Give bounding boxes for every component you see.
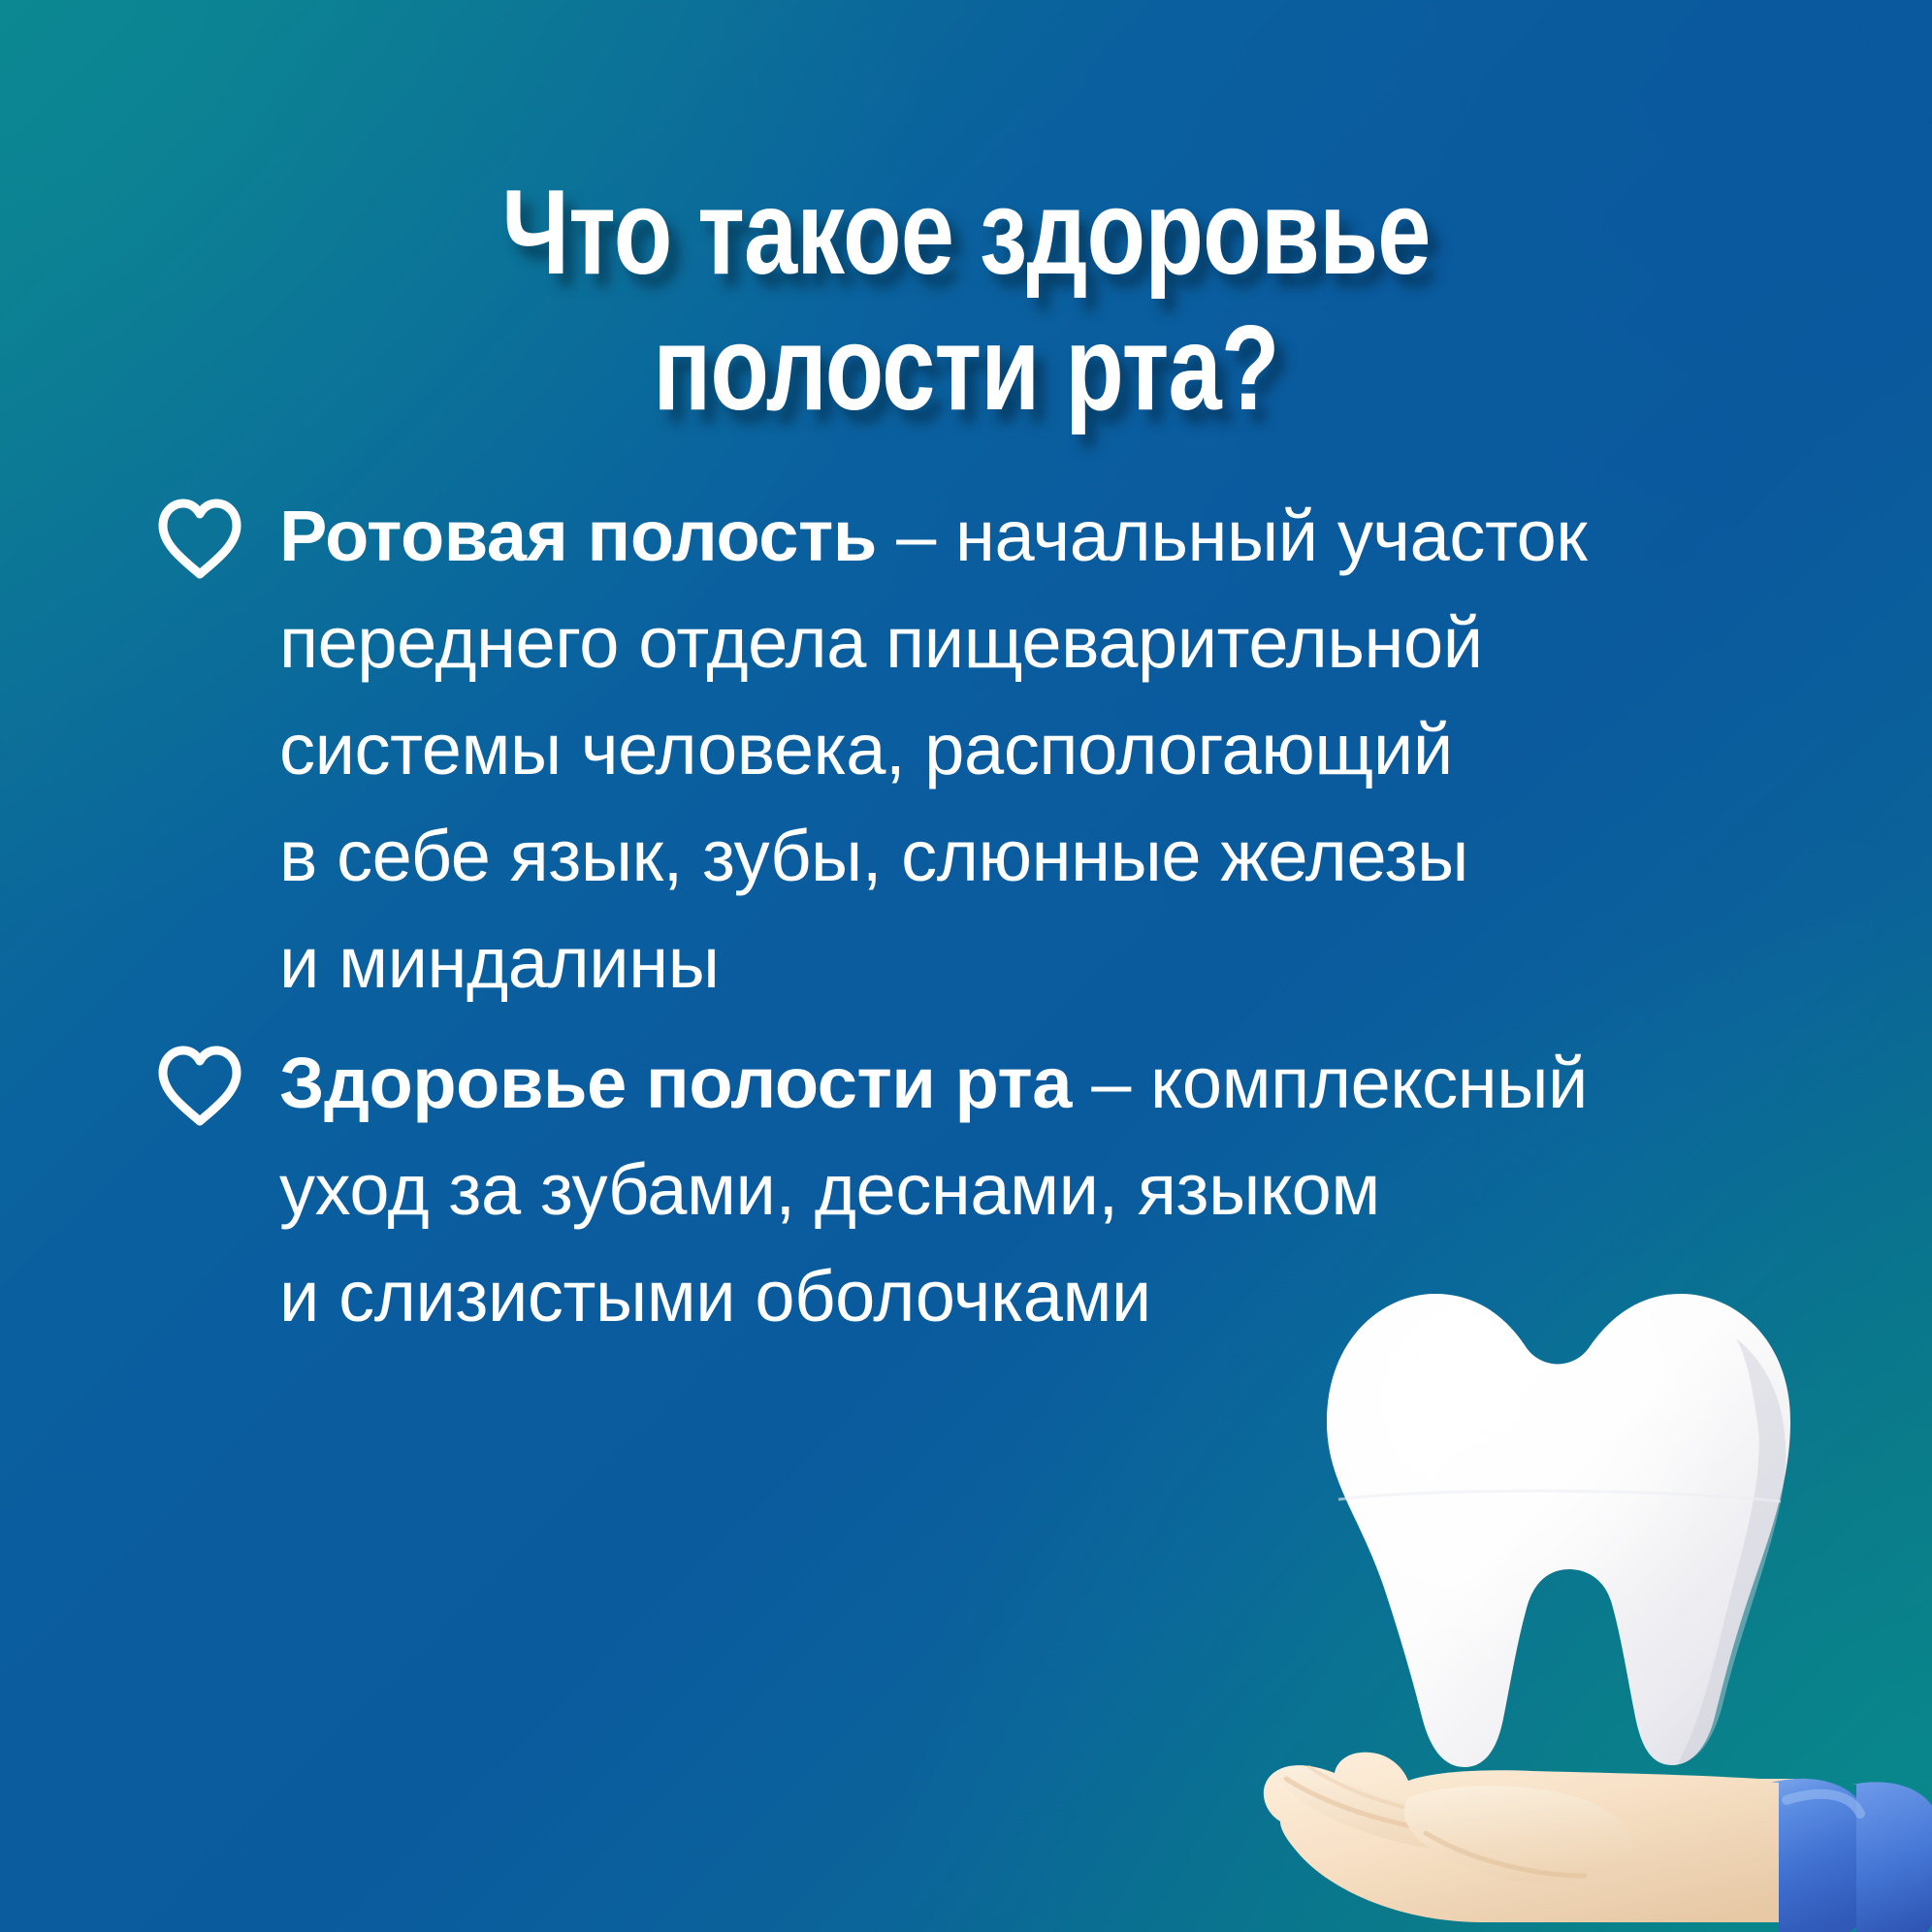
hand-shape <box>1264 1753 1932 1932</box>
heart-outline-icon <box>155 1044 244 1127</box>
tooth-shape <box>1327 1294 1790 1767</box>
list-item-text: Ротовая полость – начальный участок пере… <box>155 483 1746 1016</box>
page-title: Что такое здоровье полости рта? <box>193 165 1739 436</box>
definition-list: Ротовая полость – начальный участок пере… <box>155 483 1746 1364</box>
heart-outline-icon <box>155 497 244 580</box>
list-item-text: Здоровье полости рта – комплексный уход … <box>155 1030 1746 1350</box>
list-item: Ротовая полость – начальный участок пере… <box>155 483 1746 1016</box>
poster-canvas: Что такое здоровье полости рта? Ротовая … <box>0 0 1932 1932</box>
list-item-lead: Здоровье полости рта <box>279 1043 1072 1123</box>
list-item: Здоровье полости рта – комплексный уход … <box>155 1030 1746 1350</box>
list-item-lead: Ротовая полость <box>279 496 877 576</box>
